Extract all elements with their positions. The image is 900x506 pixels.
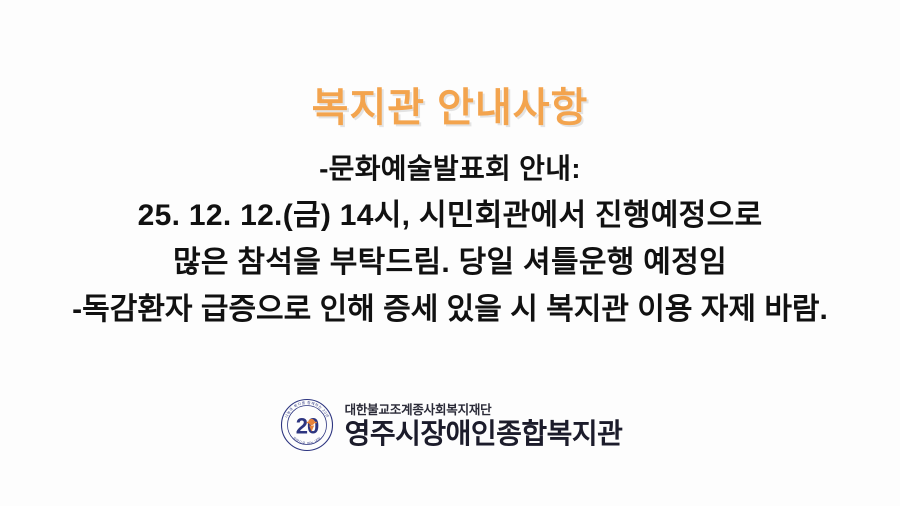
notice-body-line-1: -문화예술발표회 안내: xyxy=(0,155,900,183)
notice-poster: 복지관 안내사항 -문화예술발표회 안내: 25. 12. 12.(금) 14시… xyxy=(0,0,900,506)
notice-body-line-3: 많은 참석을 부탁드림. 당일 셔틀운행 예정임 xyxy=(0,248,900,278)
logo-text-block: 대한불교조계종사회복지재단 영주시장애인종합복지관 xyxy=(345,402,623,449)
foundation-name: 대한불교조계종사회복지재단 xyxy=(345,404,623,417)
notice-body-line-4: -독감환자 급증으로 인해 증세 있을 시 복지관 이용 자제 바람. xyxy=(0,295,900,325)
anniversary-20-emblem-icon: 나눔과 복지를 함께하는 20년 희망으로 여는 내일 20 xyxy=(278,396,336,454)
svg-text:20: 20 xyxy=(295,414,318,439)
welfare-center-name: 영주시장애인종합복지관 xyxy=(345,420,623,448)
notice-body: -문화예술발표회 안내: 25. 12. 12.(금) 14시, 시민회관에서 … xyxy=(0,155,900,325)
organization-logo: 나눔과 복지를 함께하는 20년 희망으로 여는 내일 20 대한불교조계종사회… xyxy=(0,396,900,454)
notice-body-line-2: 25. 12. 12.(금) 14시, 시민회관에서 진행예정으로 xyxy=(0,201,900,231)
page-title: 복지관 안내사항 xyxy=(0,86,900,130)
